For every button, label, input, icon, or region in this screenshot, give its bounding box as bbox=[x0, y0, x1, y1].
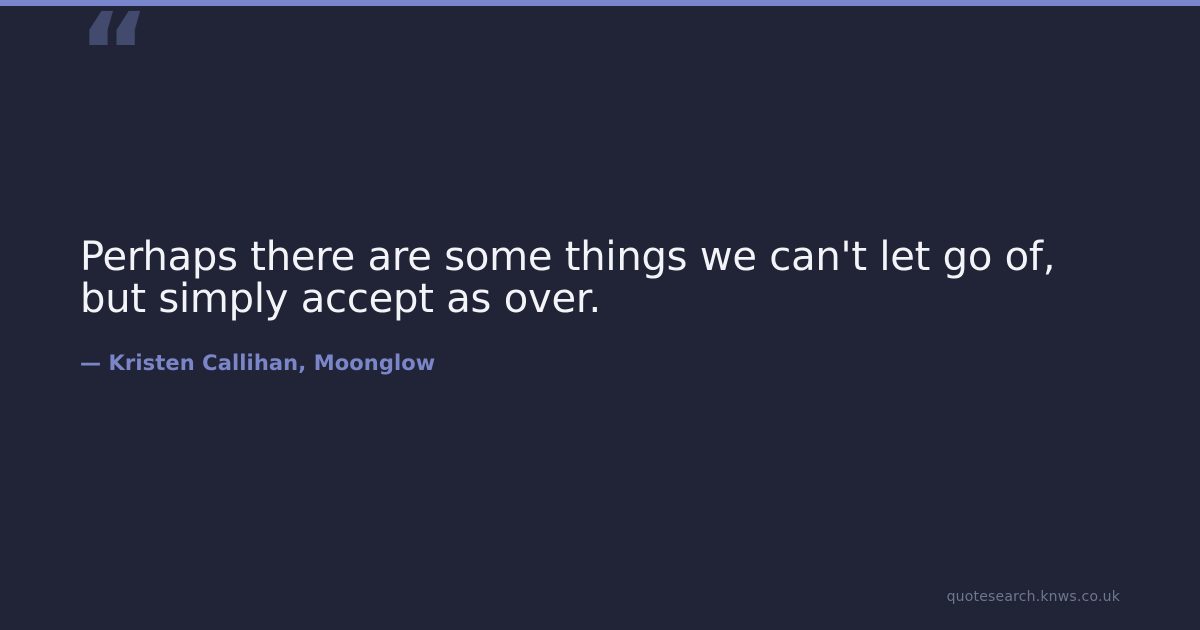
quote-open-icon: “ bbox=[78, 0, 148, 108]
quote-card: “ Perhaps there are some things we can't… bbox=[0, 0, 1200, 630]
site-watermark: quotesearch.knws.co.uk bbox=[947, 589, 1120, 605]
quote-attribution: — Kristen Callihan, Moonglow bbox=[80, 320, 1090, 376]
quote-content-block: Perhaps there are some things we can't l… bbox=[80, 236, 1090, 376]
quote-text: Perhaps there are some things we can't l… bbox=[80, 236, 1090, 320]
top-accent-bar bbox=[0, 0, 1200, 6]
